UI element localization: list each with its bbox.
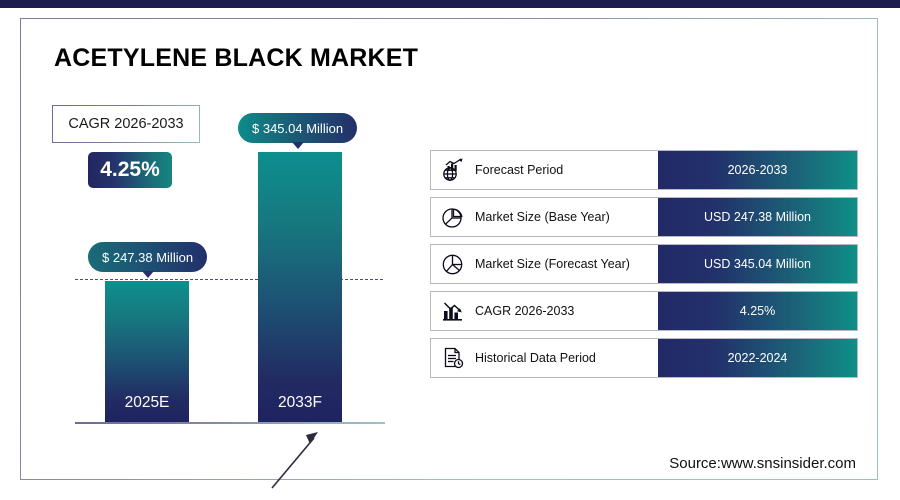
table-row-value-cell: USD 247.38 Million <box>658 197 858 237</box>
table-row-label: CAGR 2026-2033 <box>475 304 574 318</box>
value-callout-2025e-text: $ 247.38 Million <box>102 250 193 265</box>
chart-baseline-axis <box>75 422 385 424</box>
bar-chart-declining-arrow-icon <box>431 298 475 324</box>
summary-table: Forecast Period 2026-2033 <box>430 150 858 385</box>
value-callout-2033f-text: $ 345.04 Million <box>252 121 343 136</box>
table-row: Forecast Period 2026-2033 <box>430 150 858 190</box>
table-row-label-cell: Market Size (Base Year) <box>430 197 658 237</box>
globe-growth-chart-icon <box>431 157 475 183</box>
table-row-value-cell: 2022-2024 <box>658 338 858 378</box>
top-accent-bar <box>0 0 900 8</box>
table-row-value: USD 247.38 Million <box>704 210 811 224</box>
table-row: Market Size (Base Year) USD 247.38 Milli… <box>430 197 858 237</box>
bar-chart: 2025E 2033F <box>70 140 390 430</box>
table-row-label: Forecast Period <box>475 163 563 177</box>
value-callout-2033f: $ 345.04 Million <box>238 113 357 143</box>
source-attribution: Source:www.snsinsider.com <box>669 455 856 472</box>
table-row-value: 4.25% <box>740 304 775 318</box>
callout-pointer-2025e <box>142 271 154 278</box>
table-row: CAGR 2026-2033 4.25% <box>430 291 858 331</box>
bar-label-2033f: 2033F <box>258 394 342 412</box>
table-row: Historical Data Period 2022-2024 <box>430 338 858 378</box>
pie-chart-segments-icon <box>431 251 475 277</box>
table-row-value-cell: 4.25% <box>658 291 858 331</box>
cagr-label-text: CAGR 2026-2033 <box>68 116 183 132</box>
bar-2033f: 2033F <box>258 152 342 422</box>
table-row-label-cell: CAGR 2026-2033 <box>430 291 658 331</box>
table-row: Market Size (Forecast Year) USD 345.04 M… <box>430 244 858 284</box>
table-row-value: USD 345.04 Million <box>704 257 811 271</box>
table-row-value-cell: USD 345.04 Million <box>658 244 858 284</box>
callout-pointer-2033f <box>292 142 304 149</box>
value-callout-2025e: $ 247.38 Million <box>88 242 207 272</box>
table-row-label-cell: Market Size (Forecast Year) <box>430 244 658 284</box>
document-clock-icon <box>431 345 475 371</box>
page-title: ACETYLENE BLACK MARKET <box>54 44 418 73</box>
table-row-label-cell: Forecast Period <box>430 150 658 190</box>
table-row-value: 2026-2033 <box>728 163 788 177</box>
pie-chart-icon <box>431 204 475 230</box>
infographic-root: ACETYLENE BLACK MARKET CAGR 2026-2033 4.… <box>0 0 900 500</box>
table-row-label: Market Size (Base Year) <box>475 210 610 224</box>
table-row-label: Historical Data Period <box>475 351 596 365</box>
table-row-label-cell: Historical Data Period <box>430 338 658 378</box>
table-row-label: Market Size (Forecast Year) <box>475 257 630 271</box>
cagr-label-box: CAGR 2026-2033 <box>52 105 200 143</box>
bar-2025e: 2025E <box>105 281 189 422</box>
table-row-value-cell: 2026-2033 <box>658 150 858 190</box>
bar-label-2025e: 2025E <box>105 394 189 412</box>
table-row-value: 2022-2024 <box>728 351 788 365</box>
